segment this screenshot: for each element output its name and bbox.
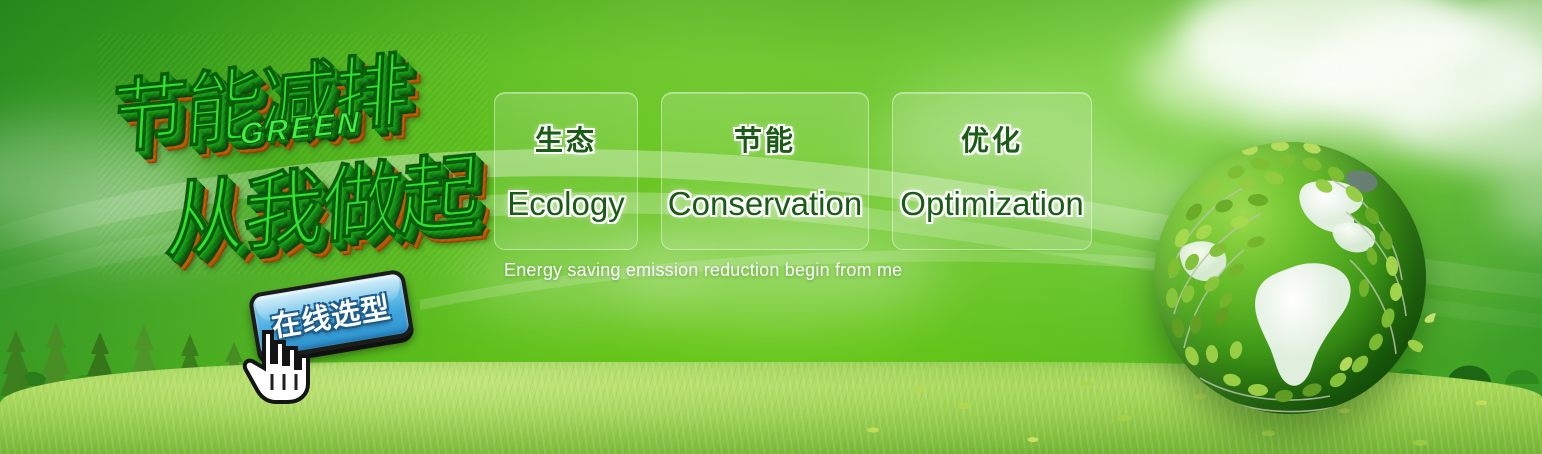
- card-title-cn: 优化: [961, 119, 1023, 159]
- card-title-cn: 生态: [535, 119, 597, 159]
- fallen-leaves-icon: [782, 374, 1542, 454]
- card-title-cn: 节能: [734, 119, 796, 159]
- feature-card-conservation[interactable]: 节能 Conservation: [661, 92, 869, 250]
- card-title-en: Ecology: [507, 185, 624, 223]
- feature-card-optimization[interactable]: 优化 Optimization: [892, 92, 1092, 250]
- banner-tagline: Energy saving emission reduction begin f…: [504, 260, 902, 281]
- feature-cards: 生态 Ecology 节能 Conservation 优化 Optimizati…: [494, 92, 1092, 250]
- card-title-en: Optimization: [900, 185, 1083, 223]
- card-title-en: Conservation: [668, 185, 862, 223]
- feature-card-ecology[interactable]: 生态 Ecology: [494, 92, 638, 250]
- eco-promo-banner: 节能减排 从我做起 GREEN 在线选型 生态 Ecology 节能 Conse…: [0, 0, 1542, 454]
